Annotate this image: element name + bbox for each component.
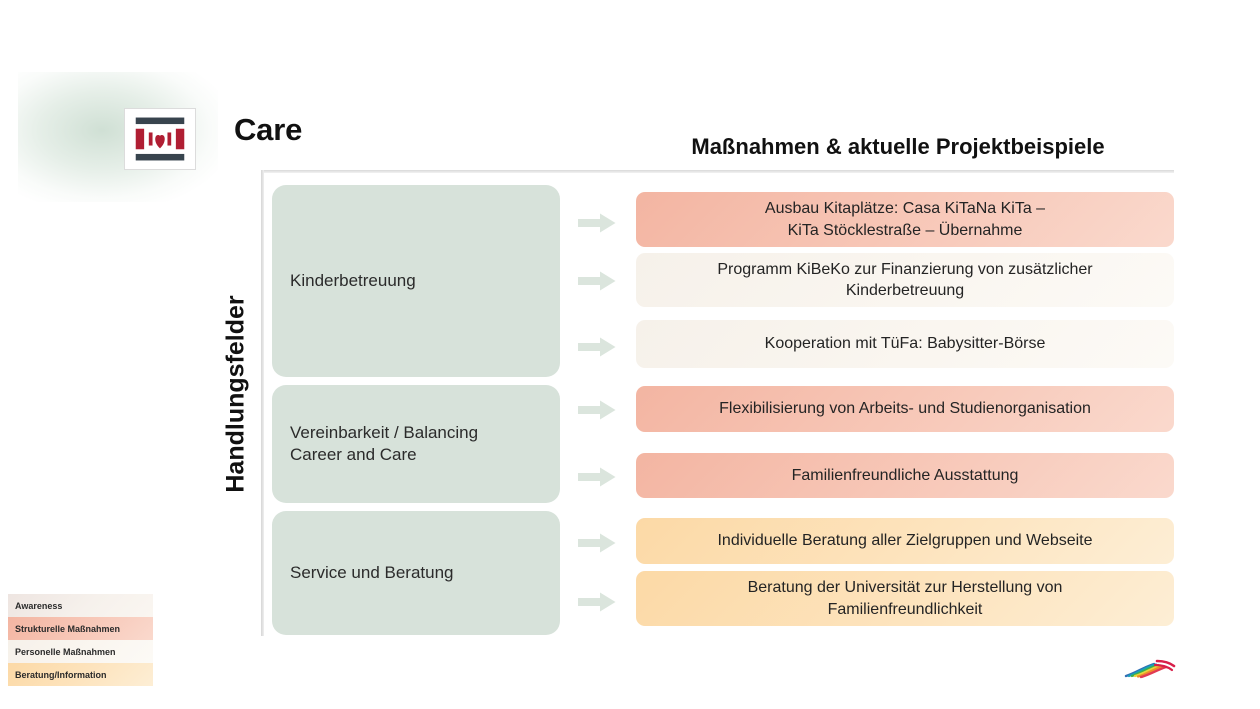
arrow-right-icon [578, 592, 616, 612]
measure-label: Ausbau Kitaplätze: Casa KiTaNa KiTa –KiT… [765, 198, 1045, 241]
measure-box: Beratung der Universität zur Herstellung… [636, 571, 1174, 626]
arrow-right-icon [578, 467, 616, 487]
legend-item: Personelle Maßnahmen [8, 640, 153, 663]
organization-logo [1124, 655, 1178, 681]
arrow-right-icon [578, 533, 616, 553]
legend: AwarenessStrukturelle MaßnahmenPersonell… [8, 594, 153, 686]
legend-item-label: Awareness [15, 601, 62, 611]
legend-item: Awareness [8, 594, 153, 617]
measure-label: Individuelle Beratung aller Zielgruppen … [717, 530, 1092, 551]
handlungsfeld-box: Vereinbarkeit / BalancingCareer and Care [272, 385, 560, 503]
measure-box: Programm KiBeKo zur Finanzierung von zus… [636, 253, 1174, 307]
top-divider [262, 170, 1174, 173]
measure-label: Flexibilisierung von Arbeits- und Studie… [719, 398, 1091, 419]
handlungsfeld-box: Service und Beratung [272, 511, 560, 635]
arrow-right-icon [578, 337, 616, 357]
measure-box: Individuelle Beratung aller Zielgruppen … [636, 518, 1174, 564]
measure-box: Kooperation mit TüFa: Babysitter-Börse [636, 320, 1174, 368]
axis-label-handlungsfelder: Handlungsfelder [206, 248, 266, 540]
arrow-right-icon [578, 400, 616, 420]
measure-label: Familienfreundliche Ausstattung [792, 465, 1019, 486]
legend-item: Strukturelle Maßnahmen [8, 617, 153, 640]
arrow-right-icon [578, 213, 616, 233]
handlungsfeld-label: Service und Beratung [290, 562, 454, 584]
legend-item-label: Personelle Maßnahmen [15, 647, 116, 657]
legend-item-label: Strukturelle Maßnahmen [15, 624, 120, 634]
care-heart-icon [124, 108, 196, 170]
axis-label-text: Handlungsfelder [222, 295, 251, 492]
measure-label: Kooperation mit TüFa: Babysitter-Börse [765, 333, 1046, 354]
page-title: Care [234, 112, 302, 148]
handlungsfeld-label: Vereinbarkeit / BalancingCareer and Care [290, 422, 478, 466]
handlungsfeld-label: Kinderbetreuung [290, 270, 416, 292]
measure-box: Ausbau Kitaplätze: Casa KiTaNa KiTa –KiT… [636, 192, 1174, 247]
column-header: Maßnahmen & aktuelle Projektbeispiele [628, 134, 1168, 160]
measure-label: Beratung der Universität zur Herstellung… [748, 577, 1063, 620]
legend-item-label: Beratung/Information [15, 670, 107, 680]
measure-box: Flexibilisierung von Arbeits- und Studie… [636, 386, 1174, 432]
legend-item: Beratung/Information [8, 663, 153, 686]
handlungsfeld-box: Kinderbetreuung [272, 185, 560, 377]
arrow-right-icon [578, 271, 616, 291]
measure-box: Familienfreundliche Ausstattung [636, 453, 1174, 498]
measure-label: Programm KiBeKo zur Finanzierung von zus… [717, 259, 1092, 302]
